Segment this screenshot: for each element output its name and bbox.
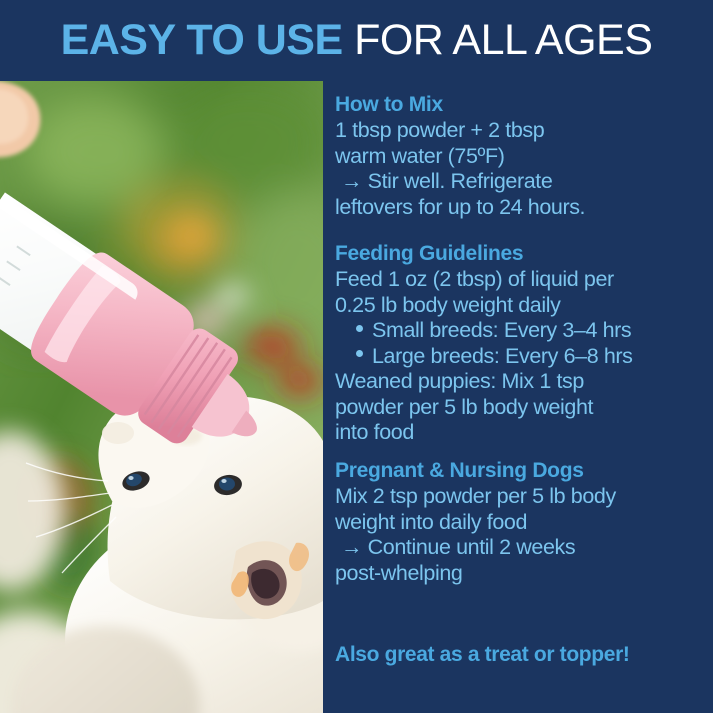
how-to-mix-line-3: → Stir well. Refrigerate xyxy=(335,169,713,195)
poster-canvas: EASY TO USE FOR ALL AGES xyxy=(0,0,713,713)
section-how-to-mix: How to Mix 1 tbsp powder + 2 tbsp warm w… xyxy=(335,92,713,220)
page-title-plain: FOR ALL AGES xyxy=(343,16,653,64)
bullet-dot-icon xyxy=(356,350,363,357)
section-pregnant-nursing-dogs: Pregnant & Nursing Dogs Mix 2 tsp powder… xyxy=(335,458,713,586)
puppy-bottle-photo xyxy=(0,81,323,713)
bullet-dot-icon xyxy=(356,325,363,332)
pregnant-line-3: → Continue until 2 weeks xyxy=(335,535,713,561)
section-feeding-guidelines: Feeding Guidelines Feed 1 oz (2 tbsp) of… xyxy=(335,241,713,446)
footer-tagline: Also great as a treat or topper! xyxy=(335,642,713,667)
feeding-bullet-small-breeds: Small breeds: Every 3–4 hrs xyxy=(335,318,713,344)
pregnant-nursing-heading: Pregnant & Nursing Dogs xyxy=(335,458,713,483)
photo-illustration xyxy=(0,81,323,713)
feeding-line-5: into food xyxy=(335,420,713,446)
section-footer-tagline: Also great as a treat or topper! xyxy=(335,642,713,667)
pregnant-line-4: post-whelping xyxy=(335,561,713,587)
header-banner: EASY TO USE FOR ALL AGES xyxy=(0,0,713,81)
how-to-mix-line-1: 1 tbsp powder + 2 tbsp xyxy=(335,118,713,144)
feeding-bullet-large-breeds: Large breeds: Every 6–8 hrs xyxy=(335,344,713,370)
feeding-line-2: 0.25 lb body weight daily xyxy=(335,293,713,319)
how-to-mix-line-2: warm water (75ºF) xyxy=(335,144,713,170)
pregnant-line-2: weight into daily food xyxy=(335,510,713,536)
pregnant-line-1: Mix 2 tsp powder per 5 lb body xyxy=(335,484,713,510)
how-to-mix-line-4: leftovers for up to 24 hours. xyxy=(335,195,713,221)
instructions-column: How to Mix 1 tbsp powder + 2 tbsp warm w… xyxy=(335,81,713,713)
feeding-line-4: powder per 5 lb body weight xyxy=(335,395,713,421)
page-title-accent: EASY TO USE xyxy=(61,16,343,64)
page-title: EASY TO USE FOR ALL AGES xyxy=(61,19,653,62)
feeding-bullet-large-breeds-label: Large breeds: Every 6–8 hrs xyxy=(372,344,633,368)
feeding-line-3: Weaned puppies: Mix 1 tsp xyxy=(335,369,713,395)
feeding-guidelines-heading: Feeding Guidelines xyxy=(335,241,713,266)
how-to-mix-heading: How to Mix xyxy=(335,92,713,117)
feeding-line-1: Feed 1 oz (2 tbsp) of liquid per xyxy=(335,267,713,293)
feeding-bullet-small-breeds-label: Small breeds: Every 3–4 hrs xyxy=(372,318,631,342)
